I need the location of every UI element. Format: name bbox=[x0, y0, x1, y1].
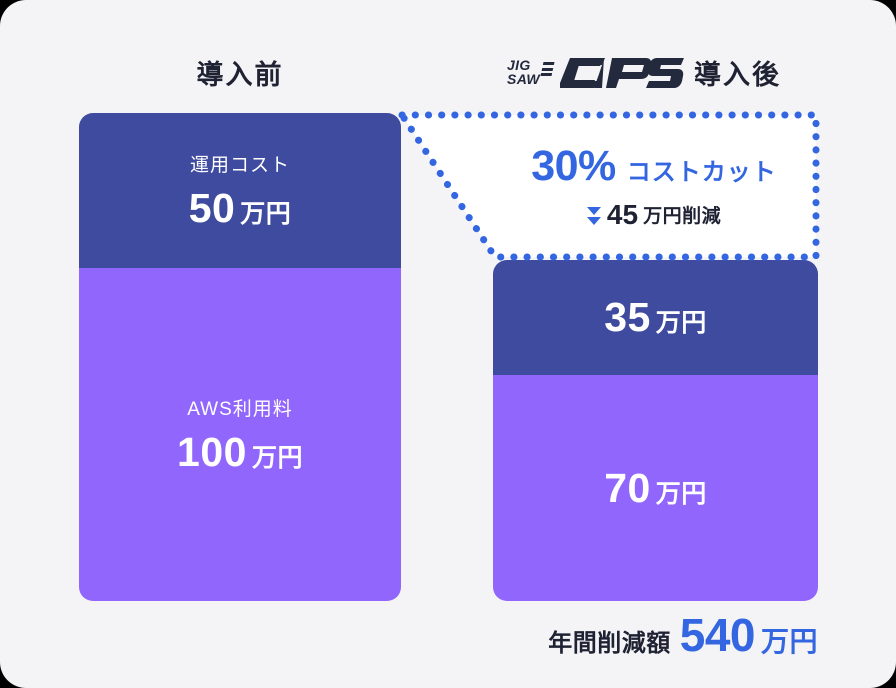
logo-word-saw: SAW bbox=[507, 72, 540, 86]
segment-value: 100 万円 bbox=[177, 429, 303, 476]
heading-after: JIG SAW bbox=[470, 50, 818, 94]
bar-before-segment-operating-cost: 運用コスト 50 万円 bbox=[79, 113, 401, 268]
callout-saving: 45 万円削減 bbox=[587, 199, 721, 231]
logo-word-jig: JIG bbox=[507, 58, 540, 72]
segment-value: 50 万円 bbox=[189, 185, 292, 232]
infographic-root: 導入前 JIG SAW bbox=[0, 0, 896, 688]
ops-wordmark-icon bbox=[560, 56, 684, 90]
callout-content: 30% コストカット 45 万円削減 bbox=[496, 109, 812, 263]
bar-after-segment-operating-cost: 35 万円 bbox=[493, 260, 818, 375]
callout-cut-label: コストカット bbox=[627, 152, 777, 187]
annual-saving-unit: 万円 bbox=[761, 620, 818, 660]
callout-saving-unit: 万円削減 bbox=[643, 201, 721, 228]
annual-saving-value: 540 bbox=[680, 608, 755, 662]
heading-after-label: 導入後 bbox=[694, 53, 781, 92]
segment-value-number: 50 bbox=[189, 185, 236, 232]
annual-saving-label: 年間削減額 bbox=[548, 623, 671, 658]
segment-value-number: 100 bbox=[177, 429, 247, 476]
segment-value: 70 万円 bbox=[604, 465, 707, 512]
segment-label: AWS利用料 bbox=[187, 394, 293, 421]
segment-value-unit: 万円 bbox=[252, 438, 303, 474]
jigsaw-wordmark: JIG SAW bbox=[507, 58, 553, 87]
callout-saving-value: 45 bbox=[607, 199, 638, 231]
segment-value: 35 万円 bbox=[604, 294, 707, 341]
heading-before-label: 導入前 bbox=[197, 53, 284, 92]
jigsaw-words: JIG SAW bbox=[507, 58, 540, 87]
heading-before: 導入前 bbox=[79, 50, 401, 94]
jigsaw-bars-icon bbox=[541, 62, 555, 76]
segment-value-number: 70 bbox=[604, 465, 651, 512]
jigsaw-ops-logo: JIG SAW bbox=[507, 55, 684, 89]
segment-value-unit: 万円 bbox=[656, 303, 707, 339]
cost-cut-callout: 30% コストカット 45 万円削減 bbox=[396, 109, 822, 263]
double-chevron-down-icon bbox=[587, 207, 601, 225]
bar-before-segment-aws-fee: AWS利用料 100 万円 bbox=[79, 268, 401, 601]
callout-headline: 30% コストカット bbox=[531, 142, 777, 191]
segment-value-unit: 万円 bbox=[656, 474, 707, 510]
bar-after: 35 万円 70 万円 bbox=[493, 260, 818, 601]
segment-value-number: 35 bbox=[604, 294, 651, 341]
bar-after-segment-aws-fee: 70 万円 bbox=[493, 375, 818, 601]
segment-label: 運用コスト bbox=[190, 150, 290, 177]
callout-percent: 30% bbox=[531, 142, 616, 191]
annual-saving-total: 年間削減額 540 万円 bbox=[470, 608, 818, 662]
bar-before: 運用コスト 50 万円 AWS利用料 100 万円 bbox=[79, 113, 401, 601]
segment-value-unit: 万円 bbox=[240, 194, 291, 230]
